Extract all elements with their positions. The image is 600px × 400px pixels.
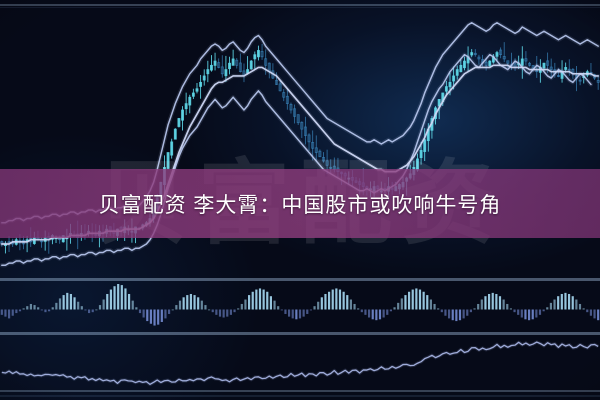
bottom-divider xyxy=(0,395,600,397)
panel-divider-3 xyxy=(0,390,600,392)
trading-chart-screenshot: 贝富配资 贝富配资 李大霄：中国股市或吹响牛号角 xyxy=(0,0,600,400)
panel-divider-1 xyxy=(0,278,600,281)
page-title: 贝富配资 李大霄：中国股市或吹响牛号角 xyxy=(99,189,502,219)
title-banner: 贝富配资 李大霄：中国股市或吹响牛号角 xyxy=(0,169,600,238)
panel-divider-2 xyxy=(0,332,600,335)
